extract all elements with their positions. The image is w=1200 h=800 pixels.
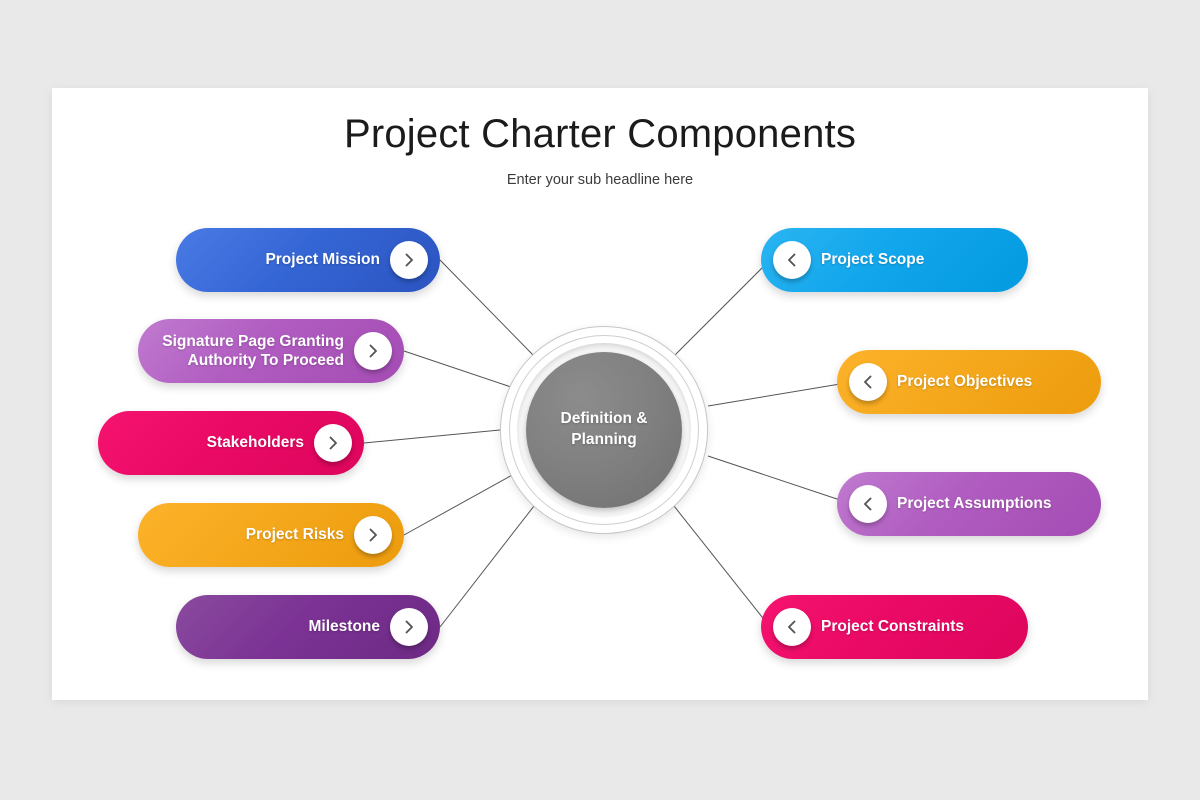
node-project-mission[interactable]: Project Mission	[176, 228, 440, 292]
node-project-objectives[interactable]: Project Objectives	[837, 350, 1101, 414]
slide: Project Charter Components Enter your su…	[52, 88, 1148, 700]
hub-label: Definition & Planning	[561, 409, 648, 451]
right-chevron-icon[interactable]	[390, 241, 428, 279]
center-hub[interactable]: Definition & Planning	[500, 326, 708, 534]
node-label: Project Scope	[821, 250, 924, 269]
left-chevron-icon[interactable]	[773, 241, 811, 279]
right-chevron-icon[interactable]	[354, 332, 392, 370]
node-label: Project Risks	[246, 525, 344, 544]
node-label: Milestone	[309, 617, 380, 636]
node-label: Project Assumptions	[897, 494, 1051, 513]
node-signature-page-granting-authority[interactable]: Signature Page Granting Authority To Pro…	[138, 319, 404, 383]
node-stakeholders[interactable]: Stakeholders	[98, 411, 364, 475]
node-project-risks[interactable]: Project Risks	[138, 503, 404, 567]
page-canvas: Project Charter Components Enter your su…	[0, 0, 1200, 800]
left-chevron-icon[interactable]	[773, 608, 811, 646]
node-label: Project Objectives	[897, 372, 1032, 391]
node-label: Stakeholders	[207, 433, 304, 452]
node-label: Project Mission	[265, 250, 380, 269]
hub-core[interactable]: Definition & Planning	[526, 352, 682, 508]
node-project-constraints[interactable]: Project Constraints	[761, 595, 1028, 659]
node-label: Project Constraints	[821, 617, 964, 636]
right-chevron-icon[interactable]	[390, 608, 428, 646]
left-chevron-icon[interactable]	[849, 363, 887, 401]
left-chevron-icon[interactable]	[849, 485, 887, 523]
node-project-assumptions[interactable]: Project Assumptions	[837, 472, 1101, 536]
node-milestone[interactable]: Milestone	[176, 595, 440, 659]
node-label: Signature Page Granting Authority To Pro…	[162, 332, 344, 371]
node-project-scope[interactable]: Project Scope	[761, 228, 1028, 292]
right-chevron-icon[interactable]	[354, 516, 392, 554]
right-chevron-icon[interactable]	[314, 424, 352, 462]
